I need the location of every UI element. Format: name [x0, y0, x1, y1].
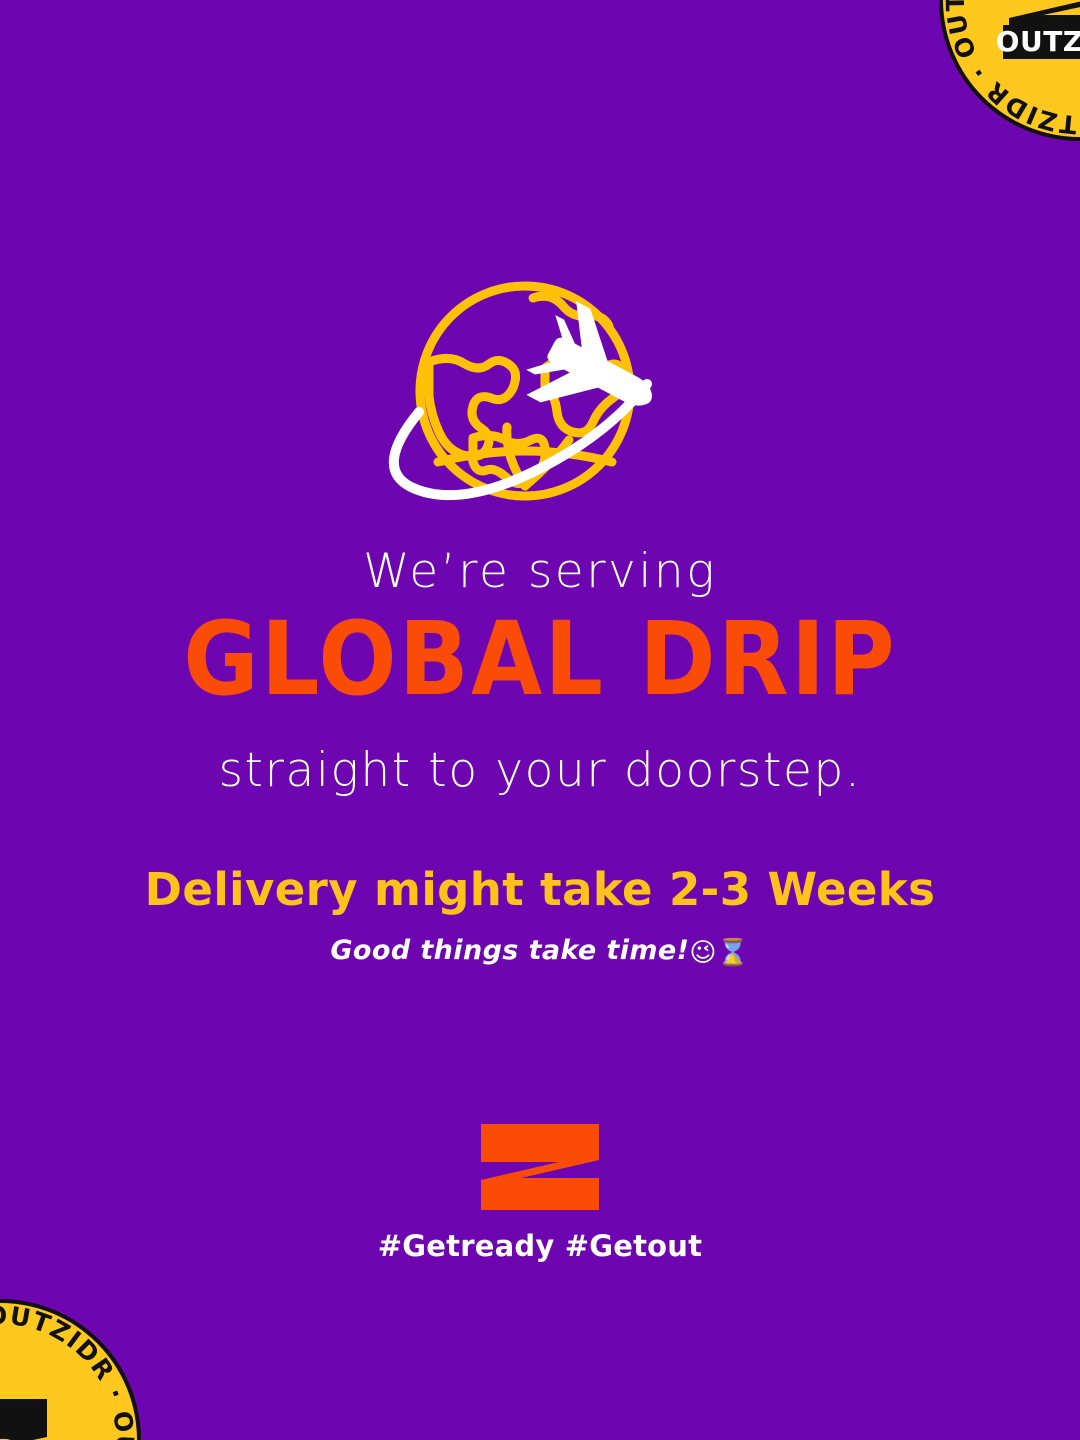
headline-global-drip: GLOBAL DRIP [0, 609, 1080, 710]
poster-copy-block: We’re serving GLOBAL DRIP straight to yo… [0, 548, 1080, 966]
seal-badge-graphic: OUTZIDR · OUTZIDR · OUTZIDR · OUTZIDR · … [0, 1295, 145, 1440]
svg-text:OUTZIDR: OUTZIDR [996, 25, 1080, 58]
hashtags-line: #Getready #Getout [0, 1229, 1080, 1263]
seal-wordmark: OUTZIDR [996, 25, 1080, 59]
good-things-text: Good things take time! [330, 935, 689, 966]
globe-with-airplane-icon [355, 272, 715, 512]
poster-footer: #Getready #Getout [0, 1122, 1080, 1263]
outzidr-z-logo [479, 1122, 601, 1212]
outzidr-seal-badge-bottom-left: OUTZIDR · OUTZIDR · OUTZIDR · OUTZIDR · … [0, 1295, 145, 1440]
promo-poster: OUTZIDR · OUTZIDR · OUTZIDR · OUTZIDR · … [0, 0, 1080, 1440]
seal-badge-graphic: OUTZIDR · OUTZIDR · OUTZIDR · OUTZIDR · … [935, 0, 1080, 145]
outzidr-seal-badge-top-right: OUTZIDR · OUTZIDR · OUTZIDR · OUTZIDR · … [935, 0, 1080, 145]
delivery-estimate-line: Delivery might take 2-3 Weeks [0, 867, 1080, 912]
winking-face-emoji: 😉 [689, 938, 717, 968]
hourglass-emoji: ⌛ [717, 938, 750, 968]
serving-line: We’re serving [0, 548, 1080, 595]
doorstep-line: straight to your doorstep. [0, 747, 1080, 794]
good-things-line: Good things take time!😉⌛ [0, 937, 1080, 966]
seal-center-z-mark [0, 1399, 47, 1440]
